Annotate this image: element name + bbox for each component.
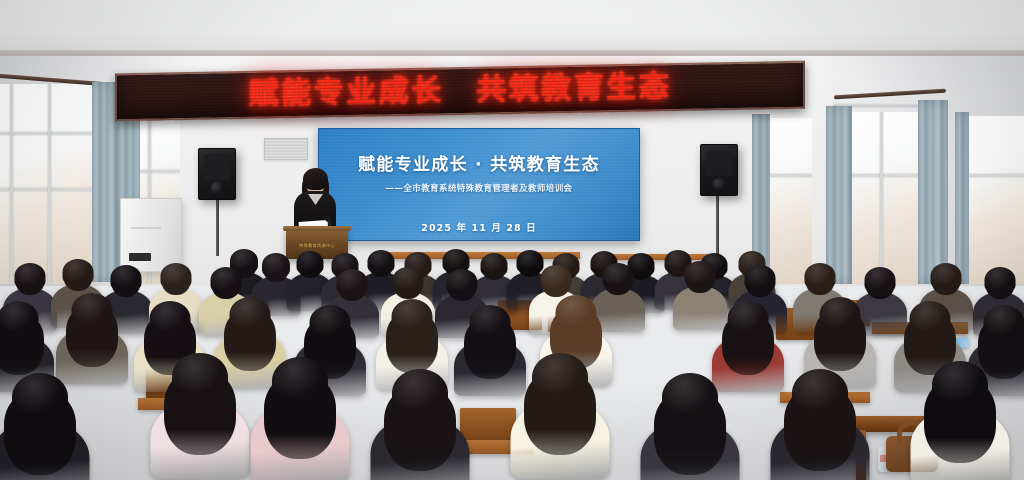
window-glass [960, 116, 1024, 284]
slide-title: 赋能专业成长 · 共筑教育生态 [319, 150, 639, 175]
audience-hair-top [728, 301, 769, 336]
curtain-far-right [955, 112, 969, 284]
slide-date: 2025 年 11 月 28 日 [319, 220, 639, 234]
audience-hair-top [392, 369, 448, 417]
slide-subtitle: ——全市教育系统特殊教育管理者及教师培训会 [319, 182, 639, 194]
window-mullion [0, 188, 102, 191]
window-mullion [48, 84, 51, 284]
window-mullion [10, 84, 13, 284]
window-mullion [880, 112, 883, 284]
audience-hair-top [865, 267, 896, 293]
audience-member [916, 360, 1004, 480]
audience-hair-top [230, 297, 271, 332]
slide-content: 赋能专业成长 · 共筑教育生态 ——全市教育系统特殊教育管理者及教师培训会 20… [319, 129, 639, 234]
audience-hair-top [172, 353, 228, 401]
audience-hair-top [745, 265, 776, 291]
audience-hair-top [0, 301, 39, 336]
audience-hair-top [470, 305, 511, 340]
audience-hair-top [685, 261, 716, 287]
audience-hair-top [310, 305, 351, 340]
audience-hair-top [603, 263, 634, 289]
audience-member [256, 356, 344, 476]
speaker-left-icon [198, 148, 236, 200]
audience-member [516, 352, 604, 472]
speaker-right-icon [700, 144, 738, 196]
audience-member [776, 368, 864, 480]
audience-hair-top [805, 263, 836, 289]
audience-hair-top [932, 361, 988, 409]
audience-hair-top [931, 263, 962, 289]
window-glass [0, 84, 102, 284]
audience-hair-top [15, 263, 46, 289]
audience-hair-top [792, 369, 848, 417]
audience-hair-top [262, 253, 290, 277]
audience-hair-top [63, 259, 94, 285]
audience-member [156, 352, 244, 472]
audience-hair-top [12, 373, 68, 421]
led-banner-text: 赋能专业成长 共筑教育生态 [249, 72, 672, 110]
audience-hair-top [297, 251, 324, 274]
speaker-bracket-left [216, 196, 219, 256]
curtain-right-b [918, 100, 948, 284]
audience-member [646, 372, 734, 480]
audience-hair-top [392, 299, 433, 334]
audience-hair-top [337, 269, 368, 295]
audience-hair-top [820, 297, 861, 332]
audience-member [0, 372, 84, 480]
conference-photo: 赋能专业成长 共筑教育生态 赋能专业成长 · 共筑教育生态 ——全市教育系统特殊… [0, 0, 1024, 480]
audience-member [458, 304, 522, 391]
audience-hair-top [541, 265, 572, 291]
audience-hair-top [161, 263, 192, 289]
curtain-right-a [826, 106, 852, 284]
audience-hair-top [211, 267, 242, 293]
audience-hair-top [984, 305, 1024, 340]
audience-hair-top [556, 295, 597, 330]
audience-hair-top [272, 357, 328, 405]
audience-hair-top [662, 373, 718, 421]
audience-hair-top [532, 353, 588, 401]
audience-hair-top [111, 265, 142, 291]
audience-member [60, 292, 124, 379]
white-cabinet [120, 198, 182, 272]
audience-hair-top [393, 267, 424, 293]
projection-screen: 赋能专业成长 · 共筑教育生态 ——全市教育系统特殊教育管理者及教师培训会 20… [318, 128, 640, 241]
audience-hair-top [72, 293, 113, 328]
audience-hair-top [447, 269, 478, 295]
audience-hair-top [985, 267, 1016, 293]
window-far-left [0, 84, 102, 284]
window-far-right [960, 116, 1024, 284]
window-mullion [0, 132, 102, 135]
speaker-bracket-right [716, 196, 719, 254]
podium-label: 特殊教育资源中心 [286, 243, 348, 249]
air-vent-icon [264, 138, 308, 160]
audience-hair-top [910, 301, 951, 336]
window-mullion [960, 174, 1024, 177]
audience-hair-top [150, 301, 191, 336]
audience-member [376, 368, 464, 480]
